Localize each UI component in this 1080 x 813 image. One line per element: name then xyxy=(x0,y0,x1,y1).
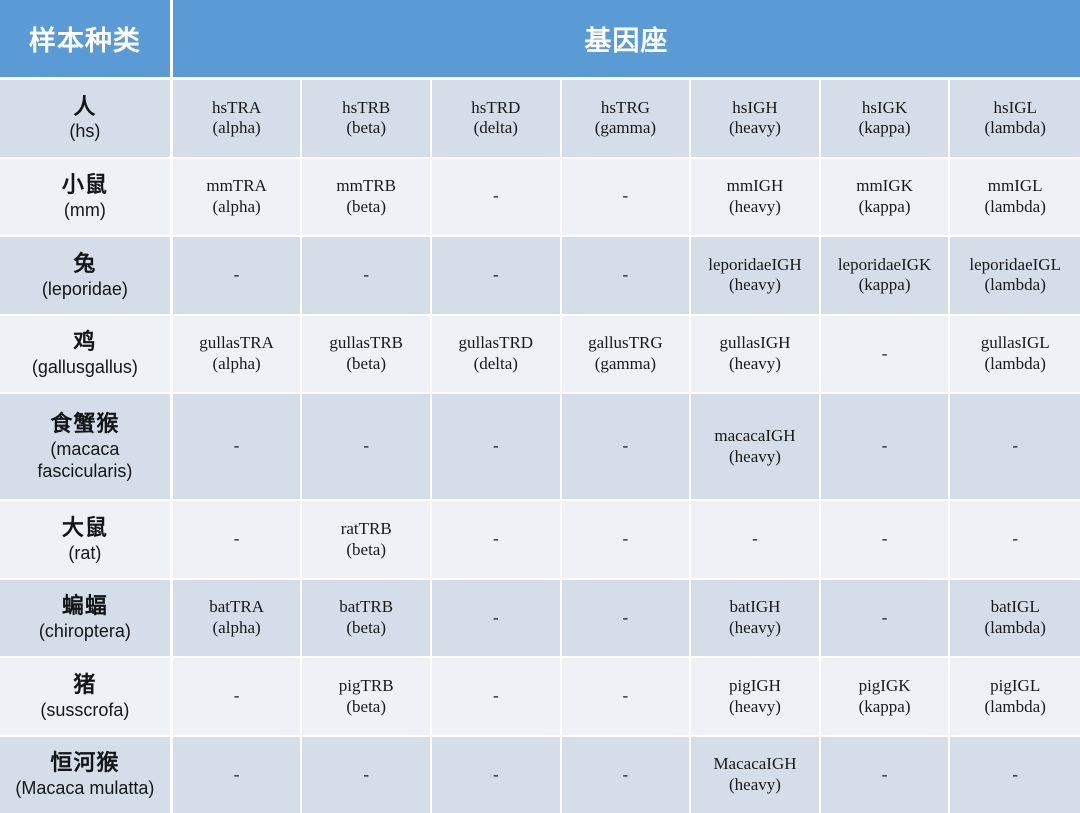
locus-chain-type: (heavy) xyxy=(693,197,817,218)
locus-cell: pigIGH(heavy) xyxy=(691,658,821,737)
table-row: 蝙蝠(chiroptera)batTRA(alpha)batTRB(beta)-… xyxy=(0,580,1080,659)
locus-cell-empty: - xyxy=(691,501,821,580)
locus-gene-name: batTRB xyxy=(304,597,428,618)
locus-cell-empty: - xyxy=(562,658,692,737)
locus-gene-name: - xyxy=(304,265,428,286)
locus-cell-empty: - xyxy=(562,501,692,580)
locus-gene-name: hsTRB xyxy=(304,98,428,119)
table-row: 大鼠(rat)-ratTRB(beta)----- xyxy=(0,501,1080,580)
locus-chain-type: (gamma) xyxy=(564,354,688,375)
locus-chain-type: (alpha) xyxy=(175,197,299,218)
locus-gene-name: - xyxy=(304,436,428,457)
species-cell: 食蟹猴(macaca fascicularis) xyxy=(0,394,173,501)
locus-gene-name: hsTRD xyxy=(434,98,558,119)
locus-cell-empty: - xyxy=(432,237,562,316)
locus-cell-empty: - xyxy=(562,580,692,659)
locus-gene-name: hsIGH xyxy=(693,98,817,119)
locus-cell: macacaIGH(heavy) xyxy=(691,394,821,501)
locus-gene-name: - xyxy=(175,265,299,286)
gene-locus-table-container: 样本种类 基因座 人(hs)hsTRA(alpha)hsTRB(beta)hsT… xyxy=(0,0,1080,813)
locus-gene-name: - xyxy=(434,686,558,707)
locus-cell-empty: - xyxy=(432,159,562,238)
locus-gene-name: - xyxy=(564,765,688,786)
locus-gene-name: - xyxy=(952,765,1078,786)
species-cell: 恒河猴(Macaca mulatta) xyxy=(0,737,173,813)
locus-gene-name: - xyxy=(175,436,299,457)
locus-cell: hsIGH(heavy) xyxy=(691,80,821,159)
locus-cell: batIGH(heavy) xyxy=(691,580,821,659)
species-name-latin: (chiroptera) xyxy=(2,621,168,643)
species-name-cn: 大鼠 xyxy=(2,515,168,542)
locus-gene-name: batIGL xyxy=(952,597,1078,618)
locus-cell: hsTRB(beta) xyxy=(302,80,432,159)
locus-gene-name: batIGH xyxy=(693,597,817,618)
table-header: 样本种类 基因座 xyxy=(0,0,1080,77)
locus-chain-type: (kappa) xyxy=(823,197,947,218)
locus-gene-name: - xyxy=(434,265,558,286)
locus-gene-name: - xyxy=(952,529,1078,550)
locus-gene-name: - xyxy=(823,344,947,365)
locus-chain-type: (heavy) xyxy=(693,354,817,375)
locus-gene-name: hsIGK xyxy=(823,98,947,119)
species-name-cn: 恒河猴 xyxy=(2,750,168,777)
species-name-latin: (macaca fascicularis) xyxy=(2,439,168,482)
table-row: 恒河猴(Macaca mulatta)----MacacaIGH(heavy)-… xyxy=(0,737,1080,813)
locus-gene-name: pigIGH xyxy=(693,676,817,697)
locus-cell: gallusTRG(gamma) xyxy=(562,316,692,395)
locus-gene-name: leporidaeIGH xyxy=(693,255,817,276)
header-sample-type: 样本种类 xyxy=(0,0,173,77)
locus-cell-empty: - xyxy=(173,237,303,316)
locus-gene-name: hsTRG xyxy=(564,98,688,119)
locus-cell-empty: - xyxy=(432,658,562,737)
locus-gene-name: ratTRB xyxy=(304,519,428,540)
species-name-cn: 兔 xyxy=(2,251,168,278)
locus-cell-empty: - xyxy=(562,159,692,238)
locus-chain-type: (beta) xyxy=(304,697,428,718)
locus-chain-type: (lambda) xyxy=(952,618,1078,639)
locus-cell: hsTRG(gamma) xyxy=(562,80,692,159)
locus-cell-empty: - xyxy=(562,237,692,316)
locus-chain-type: (kappa) xyxy=(823,697,947,718)
locus-gene-name: mmIGL xyxy=(952,176,1078,197)
locus-gene-name: mmTRA xyxy=(175,176,299,197)
locus-gene-name: leporidaeIGK xyxy=(823,255,947,276)
locus-cell: hsIGK(kappa) xyxy=(821,80,951,159)
locus-cell-empty: - xyxy=(950,394,1080,501)
species-cell: 猪(susscrofa) xyxy=(0,658,173,737)
locus-gene-name: - xyxy=(823,436,947,457)
locus-chain-type: (alpha) xyxy=(175,354,299,375)
locus-cell: gullasIGH(heavy) xyxy=(691,316,821,395)
locus-cell-empty: - xyxy=(821,394,951,501)
locus-chain-type: (heavy) xyxy=(693,447,817,468)
locus-gene-name: - xyxy=(434,765,558,786)
table-row: 兔(leporidae)----leporidaeIGH(heavy)lepor… xyxy=(0,237,1080,316)
locus-cell-empty: - xyxy=(432,737,562,813)
locus-cell-empty: - xyxy=(173,737,303,813)
locus-cell: pigIGK(kappa) xyxy=(821,658,951,737)
locus-gene-name: hsIGL xyxy=(952,98,1078,119)
locus-chain-type: (lambda) xyxy=(952,118,1078,139)
locus-cell: hsTRD(delta) xyxy=(432,80,562,159)
locus-cell: leporidaeIGL(lambda) xyxy=(950,237,1080,316)
locus-chain-type: (lambda) xyxy=(952,697,1078,718)
locus-gene-name: - xyxy=(175,765,299,786)
species-name-latin: (leporidae) xyxy=(2,279,168,301)
locus-cell-empty: - xyxy=(302,237,432,316)
locus-chain-type: (heavy) xyxy=(693,275,817,296)
species-name-cn: 人 xyxy=(2,94,168,121)
locus-cell: mmTRB(beta) xyxy=(302,159,432,238)
locus-cell-empty: - xyxy=(173,394,303,501)
table-row: 猪(susscrofa)-pigTRB(beta)--pigIGH(heavy)… xyxy=(0,658,1080,737)
locus-chain-type: (beta) xyxy=(304,618,428,639)
locus-gene-name: gallusTRG xyxy=(564,333,688,354)
locus-chain-type: (heavy) xyxy=(693,118,817,139)
locus-gene-name: pigTRB xyxy=(304,676,428,697)
locus-chain-type: (heavy) xyxy=(693,618,817,639)
locus-chain-type: (gamma) xyxy=(564,118,688,139)
locus-cell: pigIGL(lambda) xyxy=(950,658,1080,737)
locus-cell-empty: - xyxy=(173,501,303,580)
locus-gene-name: - xyxy=(304,765,428,786)
locus-gene-name: macacaIGH xyxy=(693,426,817,447)
locus-cell-empty: - xyxy=(821,501,951,580)
locus-cell: ratTRB(beta) xyxy=(302,501,432,580)
locus-cell: pigTRB(beta) xyxy=(302,658,432,737)
locus-gene-name: - xyxy=(434,608,558,629)
species-name-latin: (rat) xyxy=(2,543,168,565)
locus-cell: gullasIGL(lambda) xyxy=(950,316,1080,395)
locus-gene-name: - xyxy=(823,529,947,550)
locus-gene-name: - xyxy=(952,436,1078,457)
locus-gene-name: pigIGK xyxy=(823,676,947,697)
locus-chain-type: (lambda) xyxy=(952,354,1078,375)
species-name-latin: (gallusgallus) xyxy=(2,357,168,379)
locus-cell-empty: - xyxy=(821,737,951,813)
locus-cell-empty: - xyxy=(950,737,1080,813)
locus-cell-empty: - xyxy=(432,394,562,501)
locus-gene-name: MacacaIGH xyxy=(693,754,817,775)
locus-gene-name: - xyxy=(564,529,688,550)
locus-cell-empty: - xyxy=(432,580,562,659)
species-name-latin: (mm) xyxy=(2,200,168,222)
table-row: 人(hs)hsTRA(alpha)hsTRB(beta)hsTRD(delta)… xyxy=(0,80,1080,159)
locus-chain-type: (delta) xyxy=(434,118,558,139)
locus-cell: leporidaeIGK(kappa) xyxy=(821,237,951,316)
species-cell: 人(hs) xyxy=(0,80,173,159)
gene-locus-table: 样本种类 基因座 人(hs)hsTRA(alpha)hsTRB(beta)hsT… xyxy=(0,0,1080,813)
header-locus: 基因座 xyxy=(173,0,1080,77)
species-name-cn: 蝙蝠 xyxy=(2,593,168,620)
locus-chain-type: (lambda) xyxy=(952,275,1078,296)
locus-gene-name: - xyxy=(175,529,299,550)
locus-gene-name: gullasTRA xyxy=(175,333,299,354)
locus-gene-name: - xyxy=(434,436,558,457)
locus-gene-name: - xyxy=(564,186,688,207)
locus-gene-name: gullasIGL xyxy=(952,333,1078,354)
locus-chain-type: (beta) xyxy=(304,354,428,375)
locus-gene-name: - xyxy=(434,186,558,207)
species-name-cn: 鸡 xyxy=(2,329,168,356)
species-name-cn: 猪 xyxy=(2,672,168,699)
locus-chain-type: (kappa) xyxy=(823,275,947,296)
locus-cell-empty: - xyxy=(562,737,692,813)
table-row: 鸡(gallusgallus)gullasTRA(alpha)gullasTRB… xyxy=(0,316,1080,395)
locus-cell: hsIGL(lambda) xyxy=(950,80,1080,159)
species-cell: 大鼠(rat) xyxy=(0,501,173,580)
locus-cell-empty: - xyxy=(302,737,432,813)
locus-gene-name: gullasTRD xyxy=(434,333,558,354)
locus-cell-empty: - xyxy=(302,394,432,501)
locus-chain-type: (alpha) xyxy=(175,618,299,639)
locus-cell: mmTRA(alpha) xyxy=(173,159,303,238)
locus-cell: mmIGL(lambda) xyxy=(950,159,1080,238)
locus-cell: gullasTRA(alpha) xyxy=(173,316,303,395)
locus-gene-name: - xyxy=(564,265,688,286)
locus-cell: batIGL(lambda) xyxy=(950,580,1080,659)
locus-gene-name: pigIGL xyxy=(952,676,1078,697)
locus-cell: mmIGK(kappa) xyxy=(821,159,951,238)
locus-chain-type: (beta) xyxy=(304,197,428,218)
locus-gene-name: - xyxy=(434,529,558,550)
locus-cell-empty: - xyxy=(173,658,303,737)
table-row: 食蟹猴(macaca fascicularis)----macacaIGH(he… xyxy=(0,394,1080,501)
locus-gene-name: mmIGH xyxy=(693,176,817,197)
locus-chain-type: (heavy) xyxy=(693,697,817,718)
locus-cell-empty: - xyxy=(432,501,562,580)
locus-gene-name: - xyxy=(564,686,688,707)
locus-cell-empty: - xyxy=(821,316,951,395)
table-row: 小鼠(mm)mmTRA(alpha)mmTRB(beta)--mmIGH(hea… xyxy=(0,159,1080,238)
locus-cell: leporidaeIGH(heavy) xyxy=(691,237,821,316)
species-name-latin: (hs) xyxy=(2,121,168,143)
locus-gene-name: - xyxy=(564,436,688,457)
species-cell: 兔(leporidae) xyxy=(0,237,173,316)
locus-gene-name: gullasIGH xyxy=(693,333,817,354)
species-name-latin: (susscrofa) xyxy=(2,700,168,722)
locus-gene-name: gullasTRB xyxy=(304,333,428,354)
locus-gene-name: mmTRB xyxy=(304,176,428,197)
table-body: 人(hs)hsTRA(alpha)hsTRB(beta)hsTRD(delta)… xyxy=(0,77,1080,813)
locus-cell-empty: - xyxy=(562,394,692,501)
locus-gene-name: mmIGK xyxy=(823,176,947,197)
locus-gene-name: - xyxy=(175,686,299,707)
header-row: 样本种类 基因座 xyxy=(0,0,1080,77)
locus-gene-name: batTRA xyxy=(175,597,299,618)
locus-cell: gullasTRB(beta) xyxy=(302,316,432,395)
species-name-latin: (Macaca mulatta) xyxy=(2,778,168,800)
species-name-cn: 小鼠 xyxy=(2,172,168,199)
locus-cell: hsTRA(alpha) xyxy=(173,80,303,159)
locus-cell: gullasTRD(delta) xyxy=(432,316,562,395)
species-name-cn: 食蟹猴 xyxy=(2,411,168,438)
locus-gene-name: - xyxy=(823,608,947,629)
locus-cell: MacacaIGH(heavy) xyxy=(691,737,821,813)
species-cell: 蝙蝠(chiroptera) xyxy=(0,580,173,659)
locus-chain-type: (beta) xyxy=(304,118,428,139)
locus-chain-type: (kappa) xyxy=(823,118,947,139)
locus-gene-name: - xyxy=(693,529,817,550)
locus-gene-name: hsTRA xyxy=(175,98,299,119)
locus-cell: batTRA(alpha) xyxy=(173,580,303,659)
locus-gene-name: leporidaeIGL xyxy=(952,255,1078,276)
species-cell: 鸡(gallusgallus) xyxy=(0,316,173,395)
locus-cell: batTRB(beta) xyxy=(302,580,432,659)
locus-gene-name: - xyxy=(823,765,947,786)
locus-chain-type: (lambda) xyxy=(952,197,1078,218)
locus-cell-empty: - xyxy=(950,501,1080,580)
locus-gene-name: - xyxy=(564,608,688,629)
locus-cell: mmIGH(heavy) xyxy=(691,159,821,238)
locus-chain-type: (heavy) xyxy=(693,775,817,796)
locus-cell-empty: - xyxy=(821,580,951,659)
locus-chain-type: (alpha) xyxy=(175,118,299,139)
locus-chain-type: (beta) xyxy=(304,540,428,561)
species-cell: 小鼠(mm) xyxy=(0,159,173,238)
locus-chain-type: (delta) xyxy=(434,354,558,375)
